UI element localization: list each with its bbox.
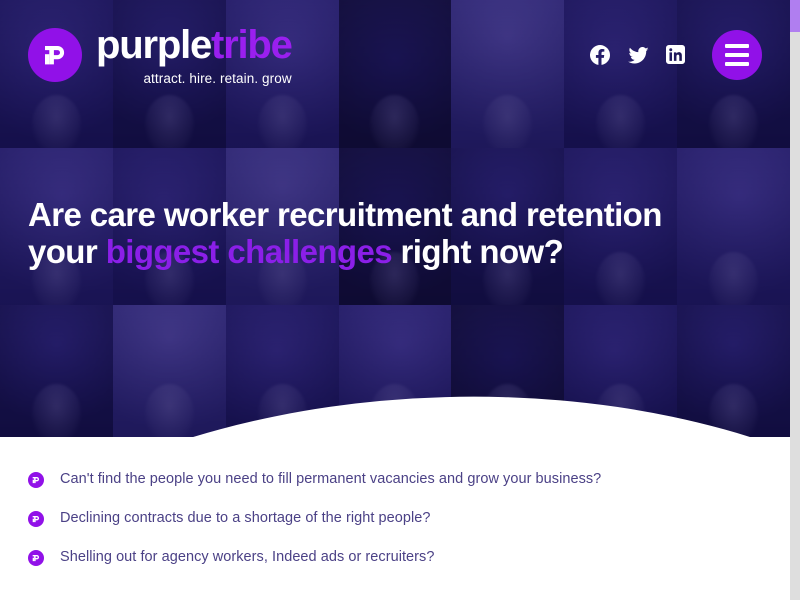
headline-line-1: Are care worker recruitment and retentio… xyxy=(28,198,768,231)
portrait-tile xyxy=(677,305,790,437)
twitter-icon[interactable] xyxy=(628,45,648,65)
hamburger-line-bottom xyxy=(725,62,749,66)
pain-points-list: Can't find the people you need to fill p… xyxy=(28,470,768,587)
headline-line2-prefix: your xyxy=(28,233,106,270)
scrollbar-thumb[interactable] xyxy=(790,0,800,32)
portrait-tile xyxy=(113,305,226,437)
hero-headline: Are care worker recruitment and retentio… xyxy=(28,198,768,272)
list-item: Shelling out for agency workers, Indeed … xyxy=(28,548,768,566)
purpletribe-bullet-icon xyxy=(28,511,44,527)
hamburger-menu-button[interactable] xyxy=(712,30,762,80)
headline-line2-suffix: right now? xyxy=(392,233,563,270)
page-root: purpletribe attract. hire. retain. grow xyxy=(0,0,800,600)
linkedin-icon[interactable] xyxy=(666,45,686,65)
brand-name-second: tribe xyxy=(211,23,292,67)
hero-section: purpletribe attract. hire. retain. grow xyxy=(0,0,790,437)
purpletribe-p-monogram-icon xyxy=(28,28,82,82)
facebook-icon[interactable] xyxy=(590,45,610,65)
list-item: Declining contracts due to a shortage of… xyxy=(28,509,768,527)
portrait-tile xyxy=(0,305,113,437)
hamburger-line-middle xyxy=(725,53,749,57)
headline-line-2: your biggest challenges right now? xyxy=(28,235,768,268)
page-scrollbar[interactable] xyxy=(790,0,800,600)
brand-name-first: purple xyxy=(96,23,211,67)
header-actions xyxy=(590,30,762,80)
hamburger-line-top xyxy=(725,44,749,48)
list-item-label: Can't find the people you need to fill p… xyxy=(60,470,601,488)
social-links xyxy=(590,45,686,65)
list-item: Can't find the people you need to fill p… xyxy=(28,470,768,488)
headline-accent-text: biggest challenges xyxy=(106,233,392,270)
list-item-label: Declining contracts due to a shortage of… xyxy=(60,509,430,527)
brand-tagline: attract. hire. retain. grow xyxy=(96,72,292,86)
brand-logo-link[interactable]: purpletribe attract. hire. retain. grow xyxy=(28,25,292,86)
purpletribe-bullet-icon xyxy=(28,472,44,488)
site-header: purpletribe attract. hire. retain. grow xyxy=(0,0,790,110)
list-item-label: Shelling out for agency workers, Indeed … xyxy=(60,548,434,566)
purpletribe-bullet-icon xyxy=(28,550,44,566)
